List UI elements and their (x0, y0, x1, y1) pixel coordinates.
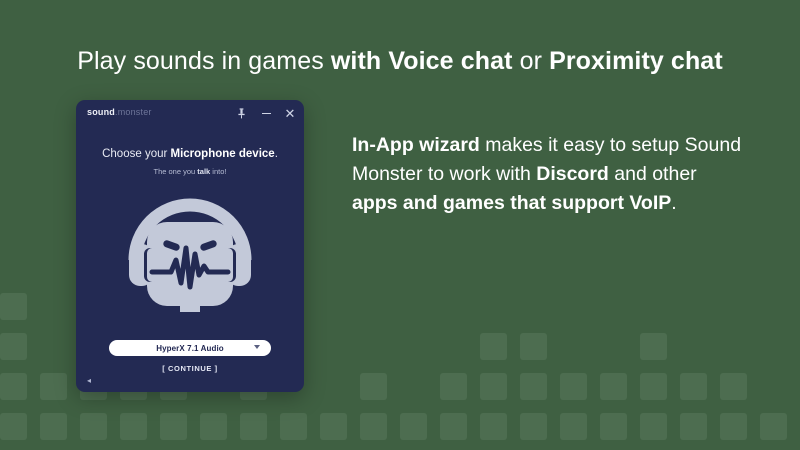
bar-cell (0, 413, 27, 440)
app-subheading: The one you talk into! (76, 167, 304, 176)
paragraph-part-2: and other (609, 163, 697, 185)
headline-bold-voice-chat: with Voice chat (331, 47, 513, 75)
bar-cell (200, 413, 227, 440)
bar-column (40, 373, 67, 450)
bar-cell (680, 413, 707, 440)
bar-cell (520, 413, 547, 440)
bar-column (560, 373, 587, 450)
microphone-device-select-value: HyperX 7.1 Audio (156, 344, 224, 353)
bar-cell (120, 413, 147, 440)
mascot-illustration-wrapper (76, 186, 304, 312)
bar-cell (360, 373, 387, 400)
bar-cell (280, 413, 307, 440)
bar-cell (320, 413, 347, 440)
slide-canvas: Play sounds in games with Voice chat or … (0, 0, 800, 450)
bar-cell (560, 413, 587, 440)
minimize-icon[interactable] (256, 103, 276, 123)
app-logo-secondary: .monster (115, 107, 152, 117)
microphone-device-select[interactable]: HyperX 7.1 Audio (109, 340, 271, 356)
headline-part-1: Play sounds in games (77, 47, 331, 75)
paragraph-bold-discord: Discord (536, 163, 609, 185)
bar-column (720, 373, 747, 450)
back-button[interactable]: ◂ (87, 377, 91, 385)
close-icon[interactable]: ✕ (280, 103, 300, 123)
bar-cell (40, 373, 67, 400)
bar-cell (160, 413, 187, 440)
bar-cell (440, 413, 467, 440)
bar-cell (640, 373, 667, 400)
bar-cell (520, 373, 547, 400)
app-titlebar[interactable]: sound.monster ✕ (76, 100, 304, 126)
bar-cell (480, 373, 507, 400)
bar-cell (240, 413, 267, 440)
bar-cell (640, 413, 667, 440)
paragraph-bold-apps-and-games: apps and games that support VoIP (352, 192, 671, 214)
description-paragraph: In-App wizard makes it easy to setup Sou… (352, 131, 744, 218)
bar-column (480, 333, 507, 450)
app-subheading-part-1: The one you (154, 167, 198, 176)
bar-cell (560, 373, 587, 400)
bar-column (640, 333, 667, 450)
bar-column (400, 413, 427, 450)
bar-column (760, 413, 787, 450)
bar-column (440, 373, 467, 450)
bar-cell (0, 373, 27, 400)
bar-cell (0, 333, 27, 360)
bar-column (680, 373, 707, 450)
monster-headphones-mascot-icon (119, 186, 261, 312)
headline-bold-proximity-chat: Proximity chat (549, 47, 723, 75)
bar-column (520, 333, 547, 450)
bar-cell (0, 293, 27, 320)
close-icon-glyph: ✕ (285, 107, 296, 120)
paragraph-part-3: . (671, 192, 676, 214)
pin-icon-glyph (237, 108, 246, 119)
bar-cell (480, 333, 507, 360)
headline-part-2: or (513, 47, 550, 75)
bar-cell (680, 373, 707, 400)
bar-cell (760, 413, 787, 440)
pin-icon[interactable] (231, 103, 251, 123)
bar-cell (480, 413, 507, 440)
bar-cell (400, 413, 427, 440)
bar-cell (720, 373, 747, 400)
app-logo-primary: sound (87, 107, 115, 117)
paragraph-bold-in-app-wizard: In-App wizard (352, 134, 480, 156)
bar-cell (440, 373, 467, 400)
bar-column (600, 373, 627, 450)
bar-cell (600, 373, 627, 400)
bar-cell (80, 413, 107, 440)
bar-column (280, 413, 307, 450)
bar-cell (360, 413, 387, 440)
bar-column (0, 293, 27, 450)
app-heading: Choose your Microphone device. (76, 148, 304, 160)
app-subheading-part-2: into! (210, 167, 226, 176)
bar-cell (520, 333, 547, 360)
bar-column (360, 373, 387, 450)
bar-cell (600, 413, 627, 440)
bar-cell (720, 413, 747, 440)
bar-cell (640, 333, 667, 360)
bar-column (320, 413, 347, 450)
app-heading-part-2: . (275, 148, 278, 160)
bar-column (200, 413, 227, 450)
app-heading-part-1: Choose your (102, 148, 170, 160)
page-title: Play sounds in games with Voice chat or … (0, 47, 800, 76)
continue-button[interactable]: [ CONTINUE ] (76, 364, 304, 373)
minimize-icon-glyph (262, 113, 271, 114)
app-heading-bold: Microphone device (171, 148, 275, 160)
sound-monster-app-window: sound.monster ✕ Choose your Microphone d… (76, 100, 304, 392)
bar-cell (40, 413, 67, 440)
app-subheading-bold: talk (197, 167, 210, 176)
chevron-down-icon (254, 345, 260, 349)
app-logo: sound.monster (87, 107, 152, 117)
